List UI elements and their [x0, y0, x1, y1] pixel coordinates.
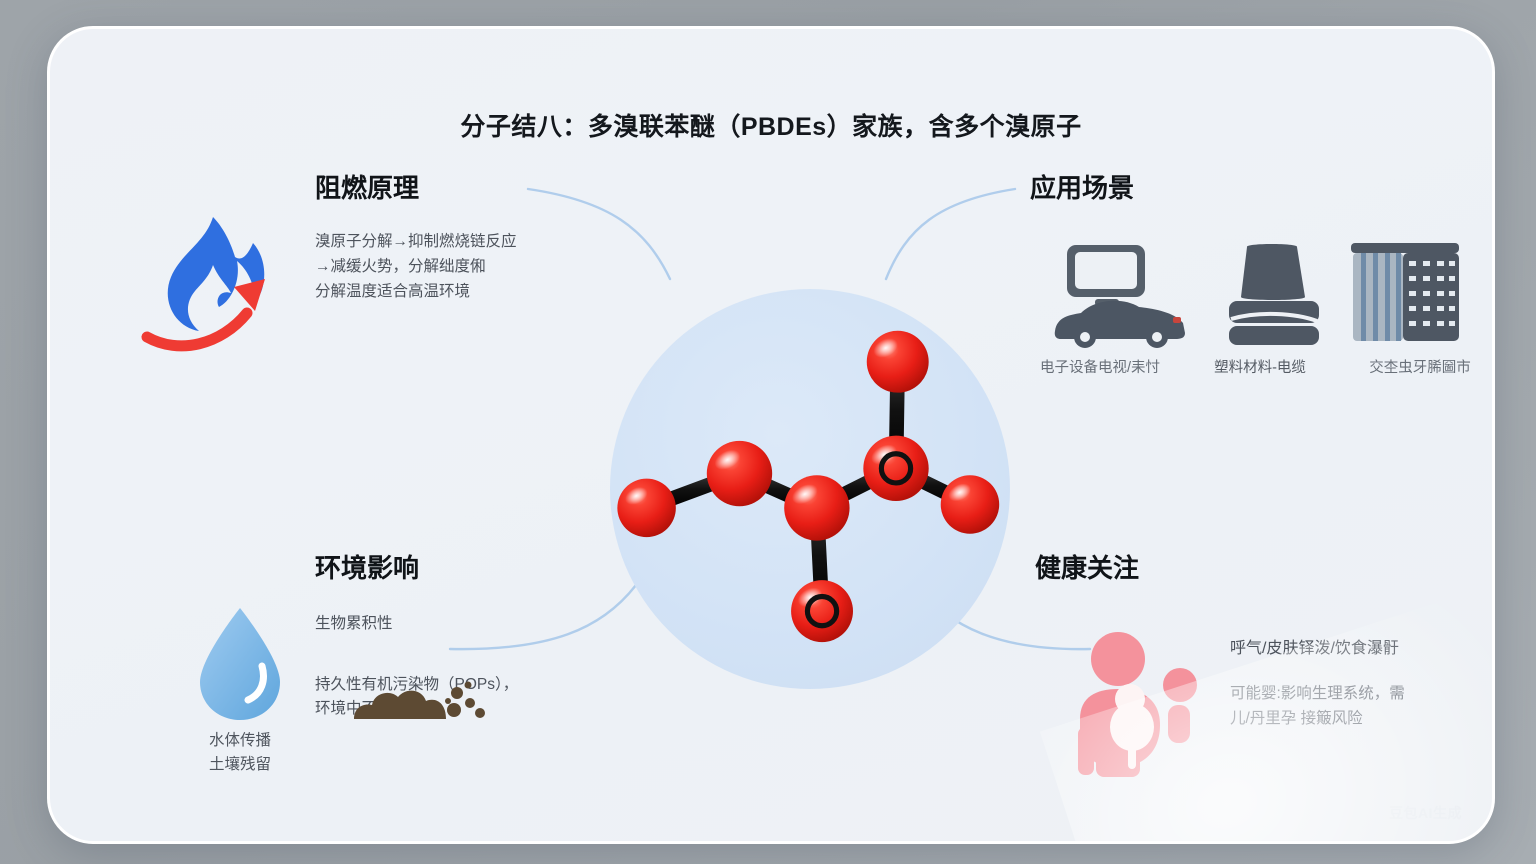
- flame-line-1: 溴原子分解→抑制燃烧链反应: [315, 229, 645, 254]
- flame-body: 溴原子分解→抑制燃烧链反应 →减缓火势，分解绌度俰 分解温度适合高温环境: [315, 229, 645, 304]
- section-application: 应用场景: [1030, 174, 1490, 203]
- adult-and-child-icon: [1070, 627, 1210, 787]
- atom-sphere-oxygen: [867, 331, 929, 393]
- environment-heading: 环境影响: [315, 554, 655, 583]
- watermark: 豆包AI生成: [1389, 803, 1462, 823]
- atom-sphere: [941, 475, 999, 533]
- bioaccumulation-label: 生物累积性: [315, 611, 655, 633]
- drop-caption-line-2: 土壤残留: [145, 753, 335, 777]
- application-caption-0: 电子设备电视/耒忖: [1025, 359, 1175, 377]
- drop-caption-line-1: 水体传播: [145, 729, 335, 753]
- page-title: 分子结八：多溴联苯醚（PBDEs）家族，含多个溴原子: [50, 107, 1492, 143]
- health-risk-text: 可能婴:影响生理系统，需 儿/丹里孕 接簸风险: [1230, 682, 1495, 732]
- flame-icon: [135, 209, 285, 359]
- application-icons: 电子设备电视/耒忖 塑料材料-电缆 交杢虫牙脪圙市: [1025, 239, 1495, 399]
- application-heading: 应用场景: [1030, 174, 1490, 203]
- flame-line-3: 分解温度适合高温环境: [315, 279, 645, 304]
- atom-sphere-oxygen: [863, 436, 928, 501]
- application-captions: 电子设备电视/耒忖 塑料材料-电缆 交杢虫牙脪圙市: [1025, 359, 1495, 377]
- flame-heading: 阻燃原理: [315, 174, 645, 203]
- health-text: 呼气/皮肤铎泼/饮食瀑骬 可能婴:影响生理系统，需 儿/丹里孕 接簸风险: [1230, 634, 1495, 732]
- curtain-circuit-icon: [1343, 239, 1468, 349]
- section-flame-retardant: 阻燃原理 溴原子分解→抑制燃烧链反应 →减缓火势，分解绌度俰 分解温度适合高温环…: [315, 174, 645, 304]
- exposure-route-line: 呼气/皮肤铎泼/饮食瀑骬: [1230, 634, 1495, 658]
- water-drop-caption: 水体传播 土壤残留: [145, 729, 335, 777]
- atom-sphere: [617, 479, 675, 537]
- section-health: 健康关注: [1035, 554, 1495, 583]
- health-risk-line-2: 儿/丹里孕 接簸风险: [1230, 707, 1495, 732]
- screen: 分子结八：多溴联苯醚（PBDEs）家族，含多个溴原子: [0, 0, 1536, 864]
- molecule-svg: [595, 284, 1025, 694]
- water-drop-icon: [190, 604, 290, 724]
- atom-sphere-oxygen: [791, 580, 853, 642]
- tv-and-car-icon: [1047, 239, 1197, 349]
- link-application: [886, 189, 1015, 279]
- health-heading: 健康关注: [1035, 554, 1495, 583]
- soil-particles-icon: [350, 677, 495, 725]
- molecule-diagram: [595, 284, 1025, 694]
- chair-seat-icon: [1213, 239, 1333, 349]
- health-risk-line-1: 可能婴:影响生理系统，需: [1230, 682, 1495, 707]
- application-caption-2: 交杢虫牙脪圙市: [1345, 359, 1495, 377]
- atom-sphere: [784, 475, 849, 540]
- atom-sphere: [707, 441, 772, 506]
- flame-line-2: →减缓火势，分解绌度俰: [315, 254, 645, 279]
- application-caption-1: 塑料材料-电缆: [1185, 359, 1335, 377]
- infographic-card: 分子结八：多溴联苯醚（PBDEs）家族，含多个溴原子: [47, 26, 1495, 844]
